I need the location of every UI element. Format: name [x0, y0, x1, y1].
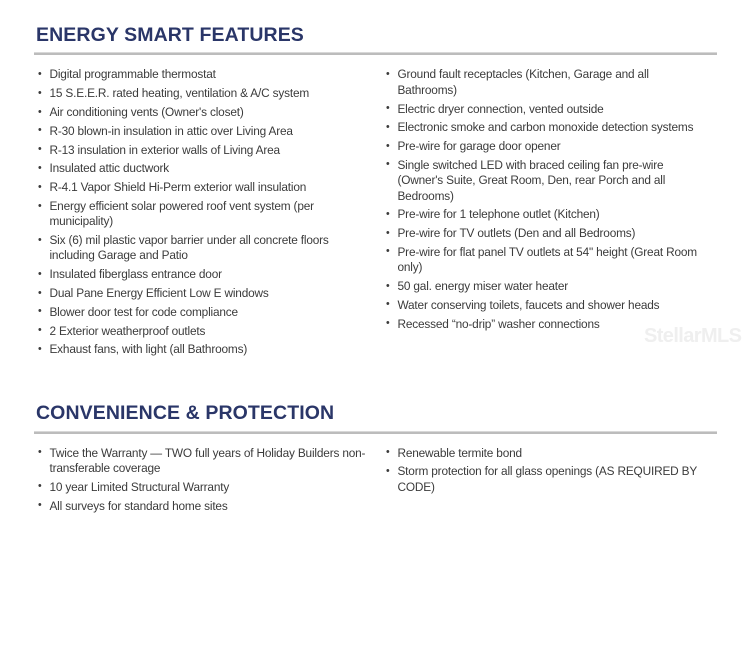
right-column: Ground fault receptacles (Kitchen, Garag… [386, 67, 717, 361]
list-item: Electronic smoke and carbon monoxide det… [386, 120, 702, 135]
list-item: Energy efficient solar powered roof vent… [38, 199, 370, 230]
list-item: Digital programmable thermostat [38, 67, 370, 82]
list-item: Insulated attic ductwork [38, 161, 370, 176]
feature-list-left: Twice the Warranty — TWO full years of H… [38, 446, 386, 514]
left-column: Twice the Warranty — TWO full years of H… [34, 446, 386, 518]
list-item: Twice the Warranty — TWO full years of H… [38, 446, 370, 477]
list-item: R-30 blown-in insulation in attic over L… [38, 124, 370, 139]
list-item: Dual Pane Energy Efficient Low E windows [38, 286, 370, 301]
list-item: Blower door test for code compliance [38, 305, 370, 320]
list-item: R-4.1 Vapor Shield Hi-Perm exterior wall… [38, 180, 370, 195]
left-column: Digital programmable thermostat 15 S.E.E… [34, 67, 386, 361]
section-columns: Twice the Warranty — TWO full years of H… [34, 446, 717, 518]
section-divider [34, 52, 717, 55]
section-title: CONVENIENCE & PROTECTION [36, 403, 716, 423]
list-item: Electric dryer connection, vented outsid… [386, 102, 702, 117]
list-item: Six (6) mil plastic vapor barrier under … [38, 233, 370, 264]
list-item: Pre-wire for TV outlets (Den and all Bed… [386, 226, 702, 241]
feature-list-right: Renewable termite bond Storm protection … [386, 446, 717, 495]
document-page: ENERGY SMART FEATURES Digital programmab… [0, 0, 746, 663]
list-item: Single switched LED with braced ceiling … [386, 158, 702, 204]
list-item: Pre-wire for 1 telephone outlet (Kitchen… [386, 207, 702, 222]
right-column: Renewable termite bond Storm protection … [386, 446, 717, 518]
list-item: Insulated fiberglass entrance door [38, 267, 370, 282]
section-divider [34, 431, 717, 434]
section-convenience-protection: CONVENIENCE & PROTECTION Twice the Warra… [34, 403, 716, 517]
section-columns: Digital programmable thermostat 15 S.E.E… [34, 67, 717, 361]
list-item: 15 S.E.E.R. rated heating, ventilation &… [38, 86, 370, 101]
list-item: R-13 insulation in exterior walls of Liv… [38, 143, 370, 158]
feature-list-right: Ground fault receptacles (Kitchen, Garag… [386, 67, 717, 331]
list-item: Ground fault receptacles (Kitchen, Garag… [386, 67, 702, 98]
section-energy-smart-features: ENERGY SMART FEATURES Digital programmab… [34, 25, 716, 361]
feature-list-left: Digital programmable thermostat 15 S.E.E… [38, 67, 386, 357]
list-item: Air conditioning vents (Owner's closet) [38, 105, 370, 120]
list-item: Pre-wire for flat panel TV outlets at 54… [386, 245, 702, 276]
list-item: Storm protection for all glass openings … [386, 464, 702, 495]
list-item: Renewable termite bond [386, 446, 702, 461]
list-item: 10 year Limited Structural Warranty [38, 480, 370, 495]
list-item: 50 gal. energy miser water heater [386, 279, 702, 294]
list-item: Pre-wire for garage door opener [386, 139, 702, 154]
section-title: ENERGY SMART FEATURES [36, 25, 716, 45]
list-item: All surveys for standard home sites [38, 499, 370, 514]
list-item: Water conserving toilets, faucets and sh… [386, 298, 702, 313]
list-item: Exhaust fans, with light (all Bathrooms) [38, 342, 370, 357]
list-item: Recessed “no-drip” washer connections [386, 317, 702, 332]
list-item: 2 Exterior weatherproof outlets [38, 324, 370, 339]
